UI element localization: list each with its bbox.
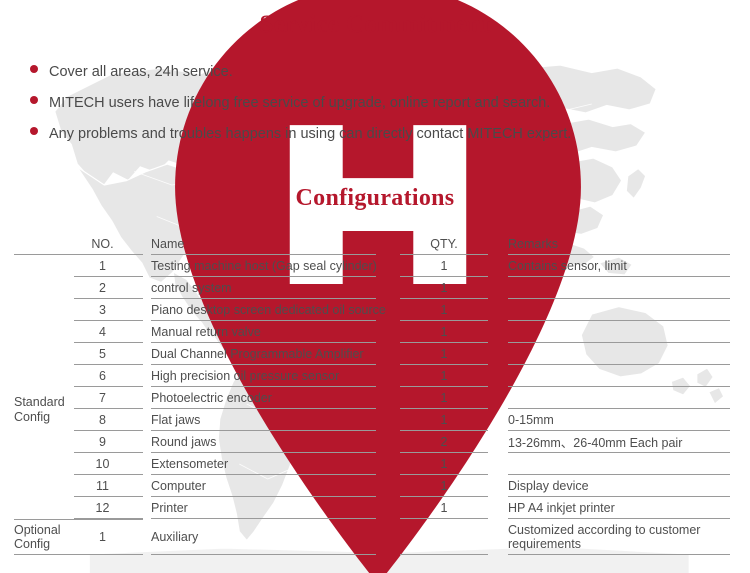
page-title-configurations: Configurations xyxy=(0,183,750,213)
cell-qty-text xyxy=(388,520,500,554)
cell-no: 11 xyxy=(62,475,143,496)
cell-pad xyxy=(730,343,750,364)
table-row: 9 Round jaws 2 13-26mm、26-40mm Each pair xyxy=(0,431,750,452)
cell-remarks: 13-26mm、26-40mm Each pair xyxy=(500,431,730,452)
cell-remarks xyxy=(500,299,730,320)
cell-remarks: HP A4 inkjet printer xyxy=(500,497,730,518)
cell-remarks-text: 0-15mm xyxy=(500,409,730,430)
table-row: 6 High precision oil pressure sensor 1 xyxy=(0,365,750,386)
cell-name: Manual return valve xyxy=(143,321,388,342)
rule-pad xyxy=(730,554,750,555)
table-row: 12 Printer 1 HP A4 inkjet printer xyxy=(0,497,750,518)
cell-name: Photoelectric encoder xyxy=(143,387,388,408)
list-item-label: Any problems and troubles happens in usi… xyxy=(49,124,571,144)
cell-remarks xyxy=(500,387,730,408)
list-item: MITECH users have lifelong free service … xyxy=(30,93,730,124)
cell-pad xyxy=(730,453,750,474)
cell-name-text: Extensometer xyxy=(143,453,388,474)
table-row: 8 Flat jaws 1 0-15mm xyxy=(0,409,750,430)
cell-qty: 1 xyxy=(388,277,500,298)
cell-qty-text: 1 xyxy=(388,409,500,430)
cell-remarks: Display device xyxy=(500,475,730,496)
cell-remarks-text: Display device xyxy=(500,475,730,496)
cell-no-text: 3 xyxy=(62,299,143,320)
cell-qty-text: 1 xyxy=(388,255,500,276)
cell-remarks-text: 13-26mm、26-40mm Each pair xyxy=(500,431,730,452)
cell-no: 8 xyxy=(62,409,143,430)
cell-qty: 1 xyxy=(388,497,500,518)
table-row: 10 Extensometer 1 xyxy=(0,453,750,474)
cell-name: Flat jaws xyxy=(143,409,388,430)
list-item-label: MITECH users have lifelong free service … xyxy=(49,93,550,113)
cell-qty-text: 1 xyxy=(388,497,500,518)
cell-no: 12 xyxy=(62,497,143,518)
list-item: Any problems and troubles happens in usi… xyxy=(30,124,730,155)
cell-remarks-text xyxy=(500,321,730,342)
cell-name: Auxiliary xyxy=(143,520,388,554)
cell-qty-text: 1 xyxy=(388,343,500,364)
column-header-no: NO. xyxy=(62,233,143,254)
cell-name-text: Photoelectric encoder xyxy=(143,387,388,408)
cell-name-text: Computer xyxy=(143,475,388,496)
cell-pad xyxy=(730,365,750,386)
cell-no-text: 6 xyxy=(62,365,143,386)
table-row: 2 control system 1 xyxy=(0,277,750,298)
cell-remarks xyxy=(500,365,730,386)
cell-no-text: 12 xyxy=(62,497,143,518)
cell-remarks-text xyxy=(500,453,730,474)
group-label-standard: Standard Config xyxy=(0,395,62,425)
cell-name: Round jaws xyxy=(143,431,388,452)
cell-pad xyxy=(730,520,750,554)
cell-remarks xyxy=(500,277,730,298)
rule-name xyxy=(143,554,388,555)
cell-remarks-text: HP A4 inkjet printer xyxy=(500,497,730,518)
cell-pad xyxy=(730,321,750,342)
cell-no-text: 10 xyxy=(62,453,143,474)
cell-name-text: High precision oil pressure sensor xyxy=(143,365,388,386)
bullet-dot-icon xyxy=(30,65,38,73)
cell-name-text: Manual return valve xyxy=(143,321,388,342)
cell-remarks-text xyxy=(500,299,730,320)
cell-qty: 1 xyxy=(388,299,500,320)
cell-pad xyxy=(730,277,750,298)
cell-pad xyxy=(730,431,750,452)
cell-name-text: Round jaws xyxy=(143,431,388,452)
rule-remarks xyxy=(500,554,730,555)
cell-name: Testing machine host (Gap seal cylinder) xyxy=(143,255,388,276)
cell-remarks-text xyxy=(500,277,730,298)
cell-name: Piano desktop screen dedicated oil sourc… xyxy=(143,299,388,320)
column-header-remarks: Remarks xyxy=(500,233,730,254)
cell-no-text: 2 xyxy=(62,277,143,298)
header-cell-qty: QTY. xyxy=(388,233,500,254)
table-row: 5 Dual Channel Programmable Amplifier 1 xyxy=(0,343,750,364)
cell-pad xyxy=(730,299,750,320)
cell-pad xyxy=(730,387,750,408)
cell-qty: 1 xyxy=(388,321,500,342)
cell-pad xyxy=(730,409,750,430)
cell-qty: 2 xyxy=(388,431,500,452)
cell-no-text: 7 xyxy=(62,387,143,408)
cell-qty-text: 2 xyxy=(388,431,500,452)
cell-no: 1 xyxy=(62,255,143,276)
group-cell-optional: Optional Config xyxy=(0,520,62,554)
cell-no-text: 1 xyxy=(62,520,143,554)
cell-no-text: 11 xyxy=(62,475,143,496)
cell-no: 4 xyxy=(62,321,143,342)
table-row-optional: Optional Config 1 Auxiliary Customized xyxy=(0,520,750,554)
cell-remarks: 0-15mm xyxy=(500,409,730,430)
cell-remarks xyxy=(500,343,730,364)
cell-qty xyxy=(388,520,500,554)
cell-no: 7 xyxy=(62,387,143,408)
cell-no: 1 xyxy=(62,520,143,554)
bullet-dot-icon xyxy=(30,127,38,135)
header-cell-pad xyxy=(730,233,750,254)
cell-remarks-text xyxy=(500,365,730,386)
cell-qty-text: 1 xyxy=(388,387,500,408)
cell-name: High precision oil pressure sensor xyxy=(143,365,388,386)
list-item-label: Cover all areas, 24h service. xyxy=(49,62,233,82)
cell-qty-text: 1 xyxy=(388,277,500,298)
cell-no-text: 8 xyxy=(62,409,143,430)
cell-no: 5 xyxy=(62,343,143,364)
cell-no-text: 4 xyxy=(62,321,143,342)
cell-name: Computer xyxy=(143,475,388,496)
cell-remarks: Customized according to customer require… xyxy=(500,520,730,554)
cell-name: Dual Channel Programmable Amplifier xyxy=(143,343,388,364)
table-rule-row-bottom xyxy=(0,554,750,555)
group-label-optional: Optional Config xyxy=(0,523,62,551)
cell-pad xyxy=(730,255,750,276)
cell-no: 10 xyxy=(62,453,143,474)
configurations-table-wrapper: NO. Name QTY. Remarks xyxy=(0,233,750,555)
table-header-row: NO. Name QTY. Remarks xyxy=(0,233,750,254)
cell-qty: 1 xyxy=(388,387,500,408)
cell-no: 3 xyxy=(62,299,143,320)
service-configuration-page: Service Commitment Cover all areas, 24h … xyxy=(0,0,750,573)
cell-qty: 1 xyxy=(388,409,500,430)
column-header-qty: QTY. xyxy=(388,233,500,254)
cell-name: Extensometer xyxy=(143,453,388,474)
cell-remarks: Contains sensor, limit xyxy=(500,255,730,276)
header-cell-no: NO. xyxy=(62,233,143,254)
cell-no: 2 xyxy=(62,277,143,298)
cell-qty: 1 xyxy=(388,475,500,496)
cell-pad xyxy=(730,497,750,518)
cell-no: 6 xyxy=(62,365,143,386)
cell-name-text: Piano desktop screen dedicated oil sourc… xyxy=(143,299,388,320)
service-commitment-list: Cover all areas, 24h service. MITECH use… xyxy=(30,62,730,155)
cell-qty: 1 xyxy=(388,343,500,364)
table-row: 3 Piano desktop screen dedicated oil sou… xyxy=(0,299,750,320)
cell-qty-text: 1 xyxy=(388,321,500,342)
rule-group-no xyxy=(0,554,143,555)
cell-no: 9 xyxy=(62,431,143,452)
header-cell-name: Name xyxy=(143,233,388,254)
cell-name-text: Dual Channel Programmable Amplifier xyxy=(143,343,388,364)
cell-name-text: Flat jaws xyxy=(143,409,388,430)
cell-remarks-text: Customized according to customer require… xyxy=(500,520,730,554)
cell-remarks-text: Contains sensor, limit xyxy=(500,255,730,276)
table-row: 4 Manual return valve 1 xyxy=(0,321,750,342)
cell-qty-text: 1 xyxy=(388,475,500,496)
cell-qty: 1 xyxy=(388,453,500,474)
cell-no-text: 1 xyxy=(62,255,143,276)
cell-qty-text: 1 xyxy=(388,453,500,474)
cell-name: Printer xyxy=(143,497,388,518)
table-row: Standard Config 1 Testing machine host (… xyxy=(0,255,750,276)
cell-qty-text: 1 xyxy=(388,299,500,320)
column-header-name: Name xyxy=(143,233,388,254)
cell-name-text: control system xyxy=(143,277,388,298)
cell-name-text: Auxiliary xyxy=(143,520,388,554)
table-row: 7 Photoelectric encoder 1 xyxy=(0,387,750,408)
rule-qty xyxy=(388,554,500,555)
cell-qty-text: 1 xyxy=(388,365,500,386)
cell-no-text: 5 xyxy=(62,343,143,364)
group-cell-standard: Standard Config xyxy=(0,255,62,519)
cell-name: control system xyxy=(143,277,388,298)
cell-name-text: Printer xyxy=(143,497,388,518)
cell-remarks-text xyxy=(500,343,730,364)
cell-remarks xyxy=(500,453,730,474)
cell-qty: 1 xyxy=(388,365,500,386)
cell-qty: 1 xyxy=(388,255,500,276)
page-title-service-commitment: Service Commitment xyxy=(0,10,750,40)
cell-remarks-text xyxy=(500,387,730,408)
table-row: 11 Computer 1 Display device xyxy=(0,475,750,496)
configurations-table: NO. Name QTY. Remarks xyxy=(0,233,750,519)
bullet-dot-icon xyxy=(30,96,38,104)
cell-remarks xyxy=(500,321,730,342)
header-cell-remarks: Remarks xyxy=(500,233,730,254)
cell-no-text: 9 xyxy=(62,431,143,452)
cell-pad xyxy=(730,475,750,496)
header-cell-group xyxy=(0,233,62,254)
cell-name-text: Testing machine host (Gap seal cylinder) xyxy=(143,255,388,276)
list-item: Cover all areas, 24h service. xyxy=(30,62,730,93)
optional-config-table: Optional Config 1 Auxiliary Customized xyxy=(0,519,750,555)
